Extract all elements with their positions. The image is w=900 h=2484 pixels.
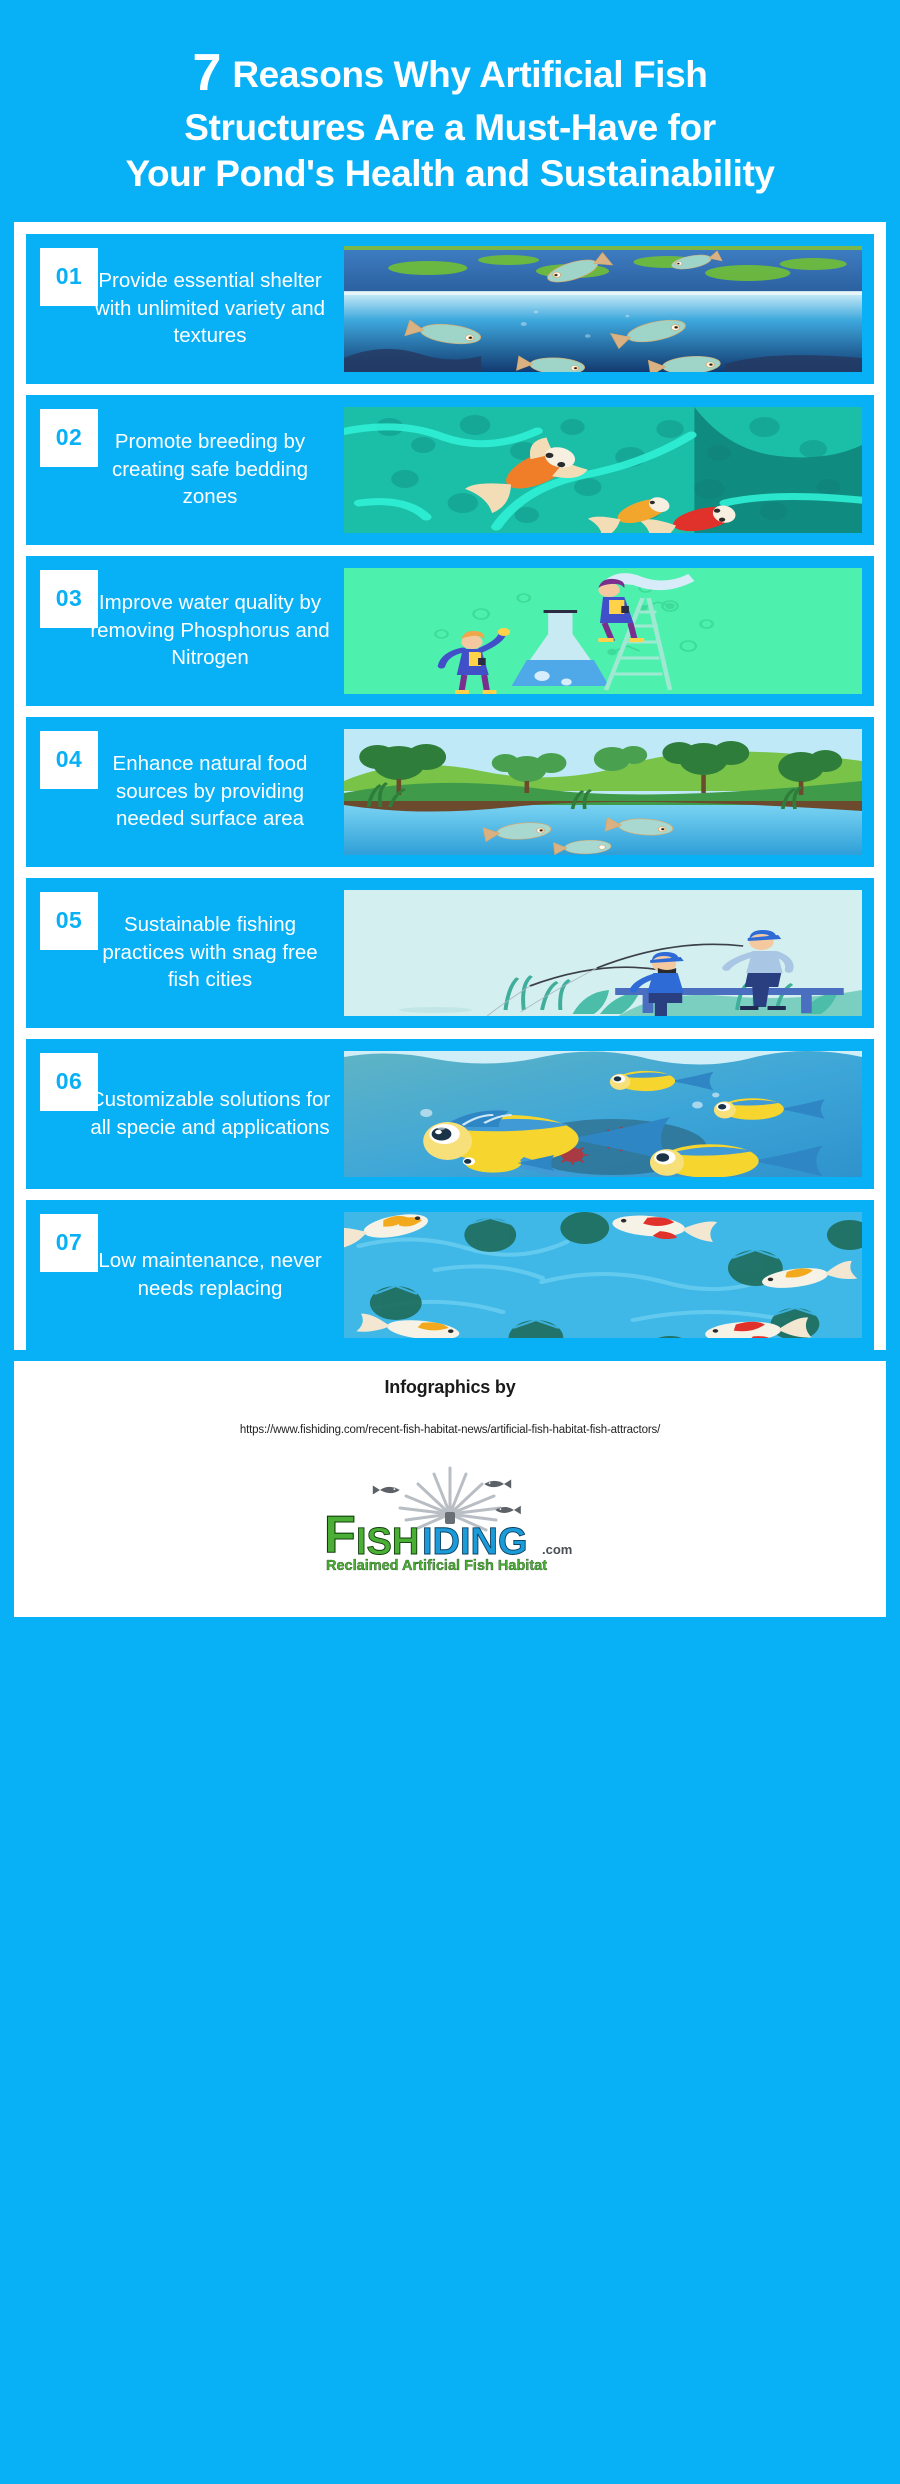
card-03-image: [344, 568, 862, 694]
card-07-number-badge: 07: [40, 1214, 98, 1272]
card-03-content: 03 Improve water quality by removing Pho…: [26, 556, 344, 706]
title-line1: Reasons Why Artificial Fish: [222, 54, 707, 95]
reason-card-02[interactable]: 02 Promote breeding by creating safe bed…: [26, 395, 874, 545]
reason-card-05[interactable]: 05 Sustainable fishing practices with sn…: [26, 878, 874, 1028]
card-01-text: Provide essential shelter with unlimited…: [80, 267, 334, 349]
logo-word-f: F: [324, 1506, 356, 1564]
riverbank-landscape-fish-illustration: [344, 729, 862, 855]
card-04-number-badge: 04: [40, 731, 98, 789]
card-07-image: [344, 1212, 862, 1338]
card-05-image: [344, 890, 862, 1016]
card-02-number-badge: 02: [40, 409, 98, 467]
header: 7 Reasons Why Artificial Fish Structures…: [0, 0, 900, 222]
card-05-content: 05 Sustainable fishing practices with sn…: [26, 878, 344, 1028]
card-04-text: Enhance natural food sources by providin…: [80, 750, 334, 832]
title-number: 7: [193, 44, 223, 102]
bottom-accent-strip: [0, 2470, 900, 2484]
footer-title: Infographics by: [34, 1377, 866, 1398]
tropical-yellow-blue-fish-underwater-illustration: [344, 1051, 862, 1177]
card-05-number-badge: 05: [40, 892, 98, 950]
reason-card-06[interactable]: 06 Customizable solutions for all specie…: [26, 1039, 874, 1189]
card-04-content: 04 Enhance natural food sources by provi…: [26, 717, 344, 867]
card-04-image: [344, 729, 862, 855]
reason-card-07[interactable]: 07 Low maintenance, never needs replacin…: [26, 1200, 874, 1350]
koi-fish-top-view-teal-water-illustration: [344, 407, 862, 533]
card-02-image: [344, 407, 862, 533]
logo-word-iding: IDING: [422, 1521, 528, 1563]
cards-panel: 01 Provide essential shelter with unlimi…: [14, 222, 886, 1350]
card-05-text: Sustainable fishing practices with snag …: [80, 911, 334, 993]
logo-tld: .com: [542, 1542, 572, 1557]
card-06-text: Customizable solutions for all specie an…: [80, 1086, 334, 1141]
card-06-image: [344, 1051, 862, 1177]
page-title: 7 Reasons Why Artificial Fish Structures…: [34, 42, 866, 196]
two-anglers-on-dock-illustration: [344, 890, 862, 1016]
scientists-flask-lab-illustration: [344, 568, 862, 694]
card-07-text: Low maintenance, never needs replacing: [80, 1247, 334, 1302]
card-06-content: 06 Customizable solutions for all specie…: [26, 1039, 344, 1189]
fishiding-logo-graphic: F ISH IDING .com Reclaimed Artificial Fi…: [300, 1462, 600, 1582]
card-07-content: 07 Low maintenance, never needs replacin…: [26, 1200, 344, 1350]
card-02-content: 02 Promote breeding by creating safe bed…: [26, 395, 344, 545]
card-02-text: Promote breeding by creating safe beddin…: [80, 428, 334, 510]
reason-card-03[interactable]: 03 Improve water quality by removing Pho…: [26, 556, 874, 706]
card-01-content: 01 Provide essential shelter with unlimi…: [26, 234, 344, 384]
card-06-number-badge: 06: [40, 1053, 98, 1111]
logo-tagline: Reclaimed Artificial Fish Habitat: [326, 1558, 547, 1574]
card-01-number-badge: 01: [40, 248, 98, 306]
infographic-page: 7 Reasons Why Artificial Fish Structures…: [0, 0, 900, 2484]
fishiding-logo[interactable]: F ISH IDING .com Reclaimed Artificial Fi…: [300, 1462, 600, 1582]
title-line2: Structures Are a Must-Have for: [184, 107, 716, 148]
reason-card-01[interactable]: 01 Provide essential shelter with unlimi…: [26, 234, 874, 384]
card-03-number-badge: 03: [40, 570, 98, 628]
card-03-text: Improve water quality by removing Phosph…: [80, 589, 334, 671]
card-01-image: [344, 246, 862, 372]
reason-card-04[interactable]: 04 Enhance natural food sources by provi…: [26, 717, 874, 867]
logo-word-ish: ISH: [356, 1521, 419, 1563]
footer-source-url[interactable]: https://www.fishiding.com/recent-fish-ha…: [34, 1424, 866, 1436]
koi-pond-lily-pads-top-view-illustration: [344, 1212, 862, 1338]
footer: Infographics by https://www.fishiding.co…: [14, 1361, 886, 1617]
pond-fish-above-below-waterline-illustration: [344, 246, 862, 372]
title-line3: Your Pond's Health and Sustainability: [125, 153, 774, 194]
